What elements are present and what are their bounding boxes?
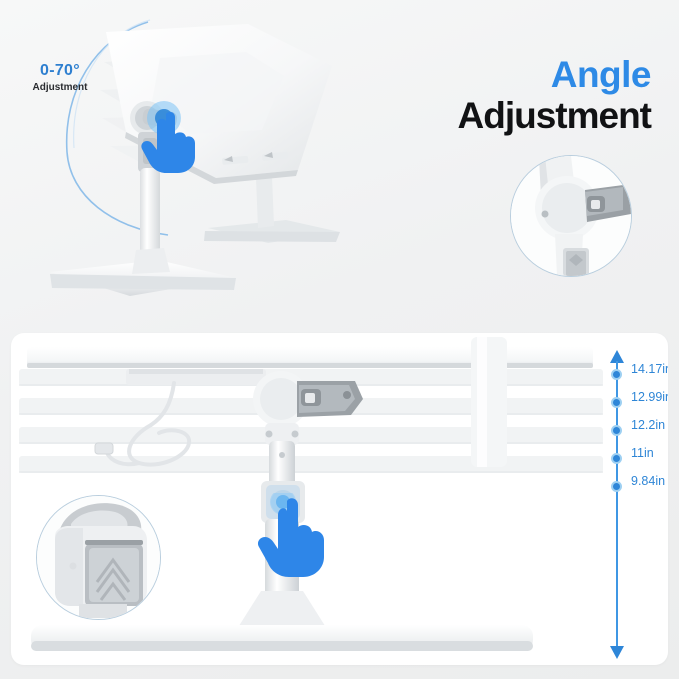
axis-arrow-down-icon bbox=[610, 646, 624, 659]
angle-range-value: 0-70° bbox=[14, 62, 106, 80]
angle-title-line1: Angle bbox=[458, 56, 652, 93]
angle-adjustment-panel: 0-70° Adjustment Angle Adjustment bbox=[0, 0, 679, 333]
infographic-canvas: 0-70° Adjustment Angle Adjustment bbox=[0, 0, 679, 679]
measure-dot bbox=[611, 453, 622, 464]
height-release-button-art bbox=[37, 496, 160, 619]
angle-range-caption: Adjustment bbox=[14, 82, 106, 93]
hinge-lock-closeup-art bbox=[511, 156, 631, 276]
measure-label: 11in bbox=[631, 446, 654, 460]
usb-cable bbox=[107, 383, 189, 465]
measure-dot bbox=[611, 425, 622, 436]
measure-label: 14.17in bbox=[631, 362, 668, 376]
adjustable-laptop-desk-tilted bbox=[40, 10, 380, 320]
angle-range-callout: 0-70° Adjustment bbox=[14, 62, 106, 93]
pointing-hand-icon bbox=[255, 493, 345, 588]
height-adjustment-panel: 14.17in 12.99in 12.2in 11in 9.84in Hight bbox=[11, 333, 668, 665]
measure-label: 12.99in bbox=[631, 390, 668, 404]
pointing-hand-icon bbox=[140, 100, 210, 180]
angle-title-line2: Adjustment bbox=[458, 97, 652, 134]
angle-panel-title: Angle Adjustment bbox=[458, 56, 652, 134]
height-measurement-axis: 14.17in 12.99in 12.2in 11in 9.84in bbox=[607, 347, 668, 659]
measure-dot bbox=[611, 481, 622, 492]
measure-label: 12.2in bbox=[631, 418, 665, 432]
measure-dot bbox=[611, 397, 622, 408]
measure-label: 9.84in bbox=[631, 474, 665, 488]
hinge-lock-closeup bbox=[510, 155, 632, 277]
measure-dot bbox=[611, 369, 622, 380]
height-release-button-closeup bbox=[36, 495, 161, 620]
